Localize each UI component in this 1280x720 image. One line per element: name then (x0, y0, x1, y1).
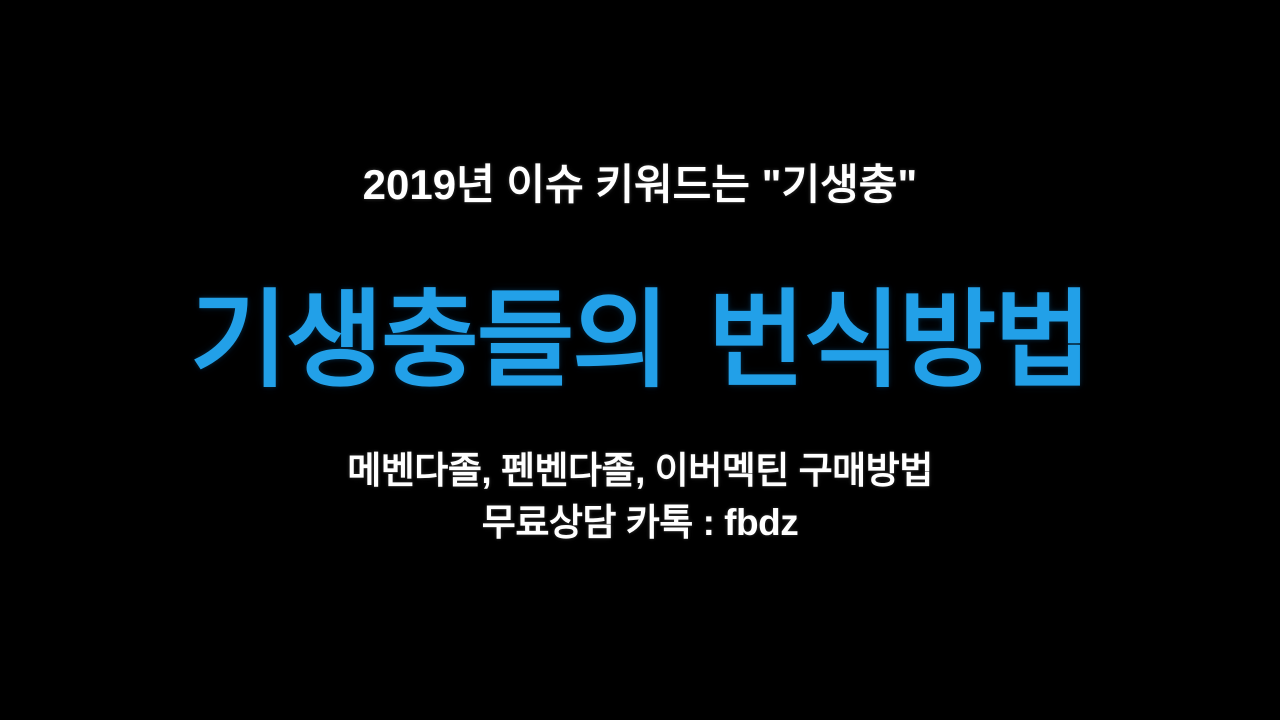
video-title-card: 2019년 이슈 키워드는 "기생충" 기생충들의번식방법 메벤다졸, 펜벤다졸… (0, 0, 1280, 720)
headline: 기생충들의번식방법 (0, 288, 1280, 394)
kicker-text: 2019년 이슈 키워드는 "기생충" (0, 164, 1280, 206)
subtitle-line-products: 메벤다졸, 펜벤다졸, 이버멕틴 구매방법 (0, 452, 1280, 489)
headline-part-1: 기생충들의 (190, 282, 668, 400)
headline-part-2: 번식방법 (708, 282, 1090, 400)
subtitle-line-contact: 무료상담 카톡 : fbdz (0, 504, 1280, 541)
